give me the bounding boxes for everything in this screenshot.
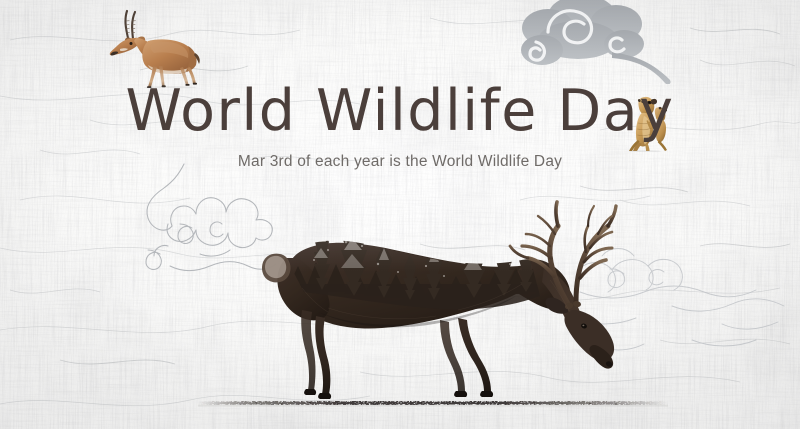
wildlife-day-poster: World Wildlife Day Mar 3rd of each year …	[0, 0, 800, 429]
auspicious-cloud-filled-icon	[520, 0, 700, 84]
page-subtitle: Mar 3rd of each year is the World Wildli…	[0, 153, 800, 171]
deer-illustration	[258, 192, 618, 407]
page-title: World Wildlife Day	[0, 82, 800, 140]
antelope-illustration	[100, 8, 205, 88]
poster-text-block: World Wildlife Day Mar 3rd of each year …	[0, 82, 800, 171]
auspicious-cloud-outline-icon	[138, 162, 278, 280]
